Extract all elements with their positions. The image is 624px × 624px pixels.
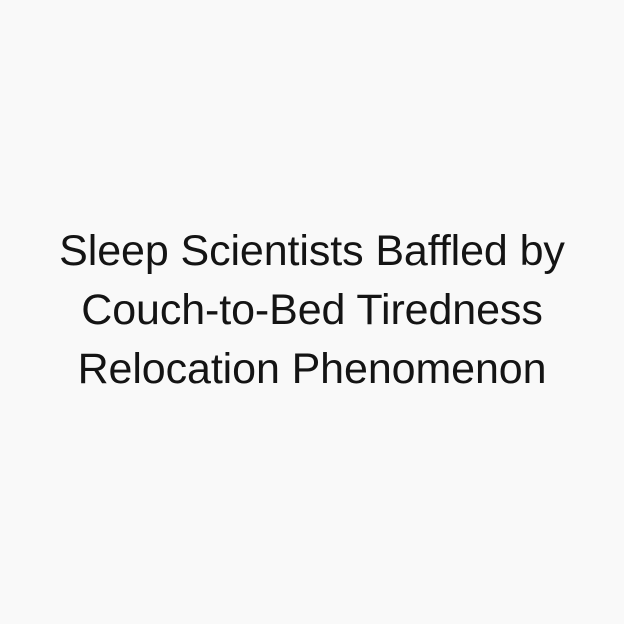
headline-line-2: Couch-to-Bed Tiredness xyxy=(48,281,576,340)
headline-line-1: Sleep Scientists Baffled by xyxy=(48,222,576,281)
headline-line-3: Relocation Phenomenon xyxy=(48,340,576,399)
page-title: Sleep Scientists Baffled by Couch-to-Bed… xyxy=(48,222,576,399)
page-canvas: Sleep Scientists Baffled by Couch-to-Bed… xyxy=(0,0,624,624)
headline-block: Sleep Scientists Baffled by Couch-to-Bed… xyxy=(32,222,592,399)
